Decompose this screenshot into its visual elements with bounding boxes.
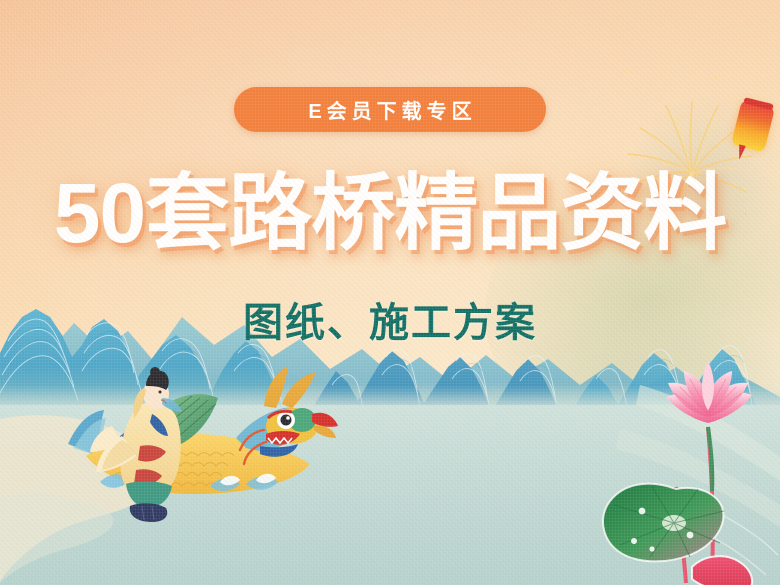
dragon-boat-illustration — [60, 360, 340, 540]
lantern-tail — [736, 144, 746, 160]
page-subtitle: 图纸、施工方案 — [0, 303, 780, 343]
sky-lantern-icon — [731, 100, 775, 153]
member-download-badge[interactable]: E会员下载专区 — [234, 87, 546, 132]
spark-dot — [714, 76, 717, 79]
scholar-figure-illustration — [90, 367, 182, 522]
poster-canvas: E会员下载专区 50套路桥精品资料 图纸、施工方案 — [0, 0, 780, 585]
spark-dot — [660, 88, 662, 90]
lotus-illustration — [580, 355, 780, 585]
spark-dot — [606, 106, 608, 108]
lantern-cap — [743, 97, 774, 110]
member-download-badge-label: E会员下载专区 — [303, 95, 476, 124]
page-title: 50套路桥精品资料 — [0, 171, 780, 255]
spark-dot — [698, 150, 700, 152]
spark-dot — [624, 70, 627, 73]
